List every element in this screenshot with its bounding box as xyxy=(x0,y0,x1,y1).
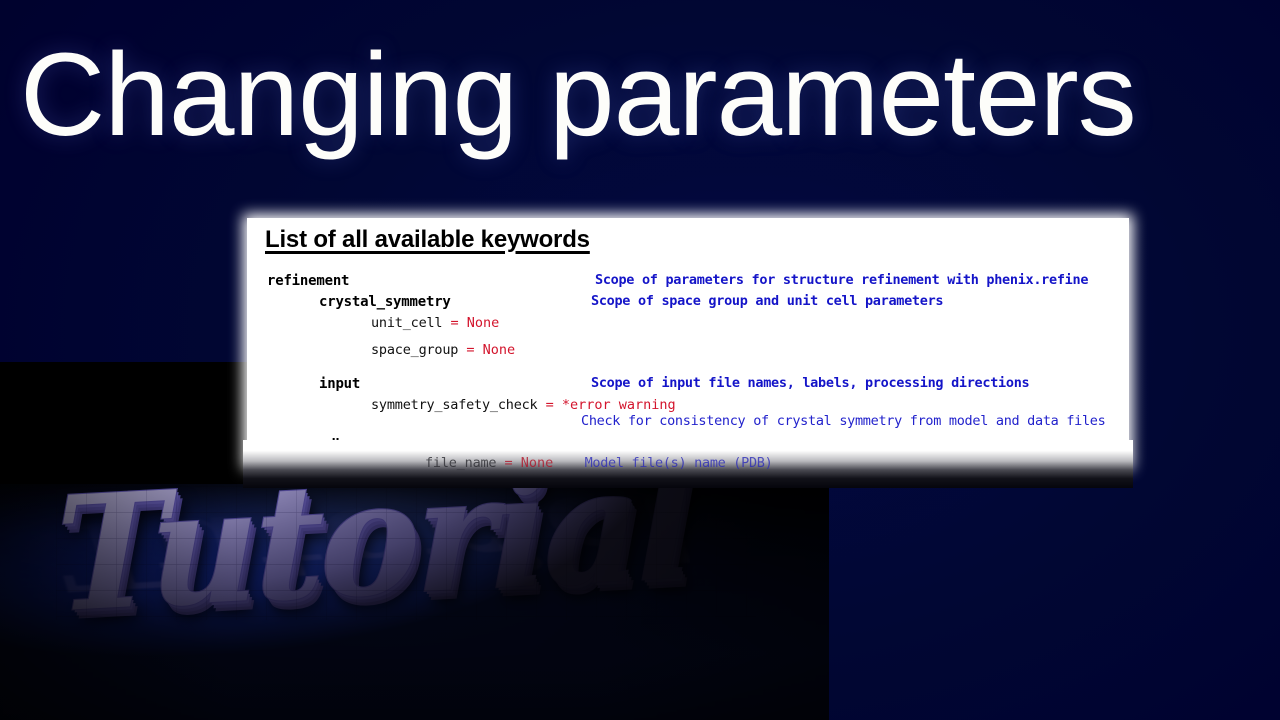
presentation-slide: Changing parameters Tutorial Tutorial Tu… xyxy=(0,0,1280,720)
scope-description-crystal_symmetry: Scope of space group and unit cell param… xyxy=(591,295,943,309)
code-line-space_group: space_group = None xyxy=(371,344,515,358)
keyword-name: refinement xyxy=(267,273,349,289)
parameter-equals: = xyxy=(496,455,520,471)
panel-bottom-fade: file_name = None Model file(s) name (PDB… xyxy=(243,440,1133,488)
code-line-refinement: refinement xyxy=(267,274,349,289)
parameter-value: *error warning xyxy=(562,397,676,413)
parameter-equals: = xyxy=(458,342,482,358)
code-line-unit_cell: unit_cell = None xyxy=(371,317,499,331)
parameter-value: None xyxy=(467,315,500,331)
panel-content: List of all available keywords refinemen… xyxy=(243,214,1133,469)
keyword-name: crystal_symmetry xyxy=(319,294,451,310)
parameter-name: unit_cell xyxy=(371,315,442,331)
scope-description-refinement: Scope of parameters for structure refine… xyxy=(595,274,1088,288)
page-title: Changing parameters xyxy=(20,36,1264,154)
scope-description-input: Scope of input file names, labels, proce… xyxy=(591,377,1029,391)
parameter-name: symmetry_safety_check xyxy=(371,397,537,413)
parameter-equals: = xyxy=(442,315,466,331)
parameter-description-symmetry_safety_check: Check for consistency of crystal symmetr… xyxy=(581,415,1105,429)
code-line-symmetry_safety_check: symmetry_safety_check = *error warning xyxy=(371,399,676,413)
parameter-name: space_group xyxy=(371,342,458,358)
code-line-input: input xyxy=(319,377,360,392)
keyword-name: input xyxy=(319,376,360,392)
keyword-list-panel: List of all available keywords refinemen… xyxy=(243,214,1133,469)
code-line-crystal_symmetry: crystal_symmetry xyxy=(319,295,451,310)
parameter-value: None xyxy=(483,342,516,358)
code-line-file-name: file_name = None Model file(s) name (PDB… xyxy=(425,457,772,471)
parameter-value: None xyxy=(521,455,554,471)
parameter-description-file-name: Model file(s) name (PDB) xyxy=(553,455,772,471)
panel-heading: List of all available keywords xyxy=(265,226,590,254)
parameter-name: file_name xyxy=(425,455,496,471)
parameter-equals: = xyxy=(537,397,561,413)
